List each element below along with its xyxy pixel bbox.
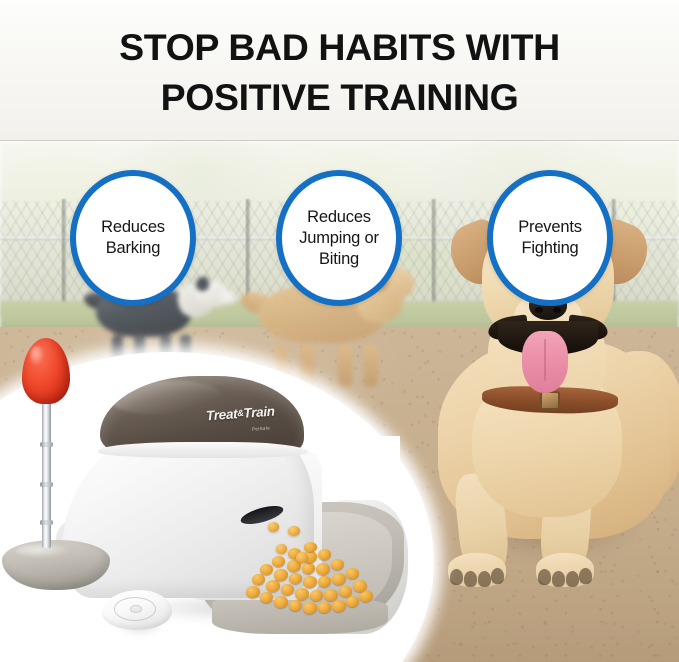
kibble xyxy=(318,549,331,560)
kibble xyxy=(274,569,288,581)
dog-nostril-right xyxy=(553,307,561,313)
dog-collar-buckle xyxy=(540,391,560,410)
kibble xyxy=(331,559,344,570)
dog-nostril-left xyxy=(535,307,543,313)
dog-toe xyxy=(464,571,477,587)
badge-reduces-jumping-biting[interactable]: Reduces Jumping or Biting xyxy=(276,170,402,306)
dog-tongue-crease xyxy=(544,339,546,381)
dog-toe xyxy=(579,568,592,584)
kibble xyxy=(310,590,323,601)
badge-reduces-barking[interactable]: Reduces Barking xyxy=(70,170,196,306)
wireless-remote-control[interactable] xyxy=(100,588,180,640)
dog-toe xyxy=(491,568,504,584)
kibble xyxy=(272,556,285,567)
collie-ear xyxy=(196,277,209,291)
kibble xyxy=(246,586,260,598)
dog-toe xyxy=(538,569,551,585)
dog-toe xyxy=(478,571,491,587)
dog-toe xyxy=(450,569,463,585)
target-ball-highlight xyxy=(30,346,44,366)
kibble xyxy=(281,584,294,595)
kibble xyxy=(332,600,346,612)
kibble xyxy=(332,573,346,585)
kibble xyxy=(252,574,265,585)
kibble xyxy=(318,576,331,587)
target-stick-pole xyxy=(42,400,51,548)
brand-name-train: Train xyxy=(243,404,275,421)
target-pole-joint xyxy=(40,442,53,447)
brand-name-treat: Treat xyxy=(206,406,238,423)
kibble-pile xyxy=(244,542,378,618)
kibble xyxy=(295,588,309,600)
remote-dispense-button[interactable] xyxy=(130,605,142,613)
collie-muzzle xyxy=(220,292,236,304)
badge-label: Reduces Barking xyxy=(95,217,171,259)
badge-label: Reduces Jumping or Biting xyxy=(293,207,385,270)
target-pole-joint xyxy=(40,482,53,487)
kibble xyxy=(260,592,273,603)
badge-label: Prevents Fighting xyxy=(512,217,588,259)
kibble xyxy=(302,563,315,574)
target-pole-joint xyxy=(40,520,53,525)
dog-paw-right xyxy=(536,553,594,587)
dog-paw-left xyxy=(448,553,506,587)
target-training-stick xyxy=(0,330,120,600)
kibble xyxy=(289,600,302,611)
kibble xyxy=(346,568,359,579)
kibble xyxy=(318,602,331,613)
dog-toe xyxy=(552,571,565,587)
kibble xyxy=(303,576,317,588)
infographic-stage: Treat&Train PetSafe xyxy=(0,0,679,662)
kibble xyxy=(346,596,359,607)
kibble xyxy=(274,596,288,608)
hopper-rim xyxy=(98,442,308,458)
page-title: STOP BAD HABITS WITH POSITIVE TRAINING xyxy=(0,22,679,122)
kibble xyxy=(260,564,273,575)
target-red-ball xyxy=(22,338,70,404)
headline-band: STOP BAD HABITS WITH POSITIVE TRAINING xyxy=(0,0,679,141)
badge-prevents-fighting[interactable]: Prevents Fighting xyxy=(487,170,613,306)
kibble xyxy=(304,542,317,552)
kibble xyxy=(324,589,338,601)
dog-toe xyxy=(566,571,579,587)
kibble xyxy=(316,563,330,575)
kibble xyxy=(266,580,280,592)
kibble xyxy=(289,573,302,584)
kibble xyxy=(303,602,317,614)
